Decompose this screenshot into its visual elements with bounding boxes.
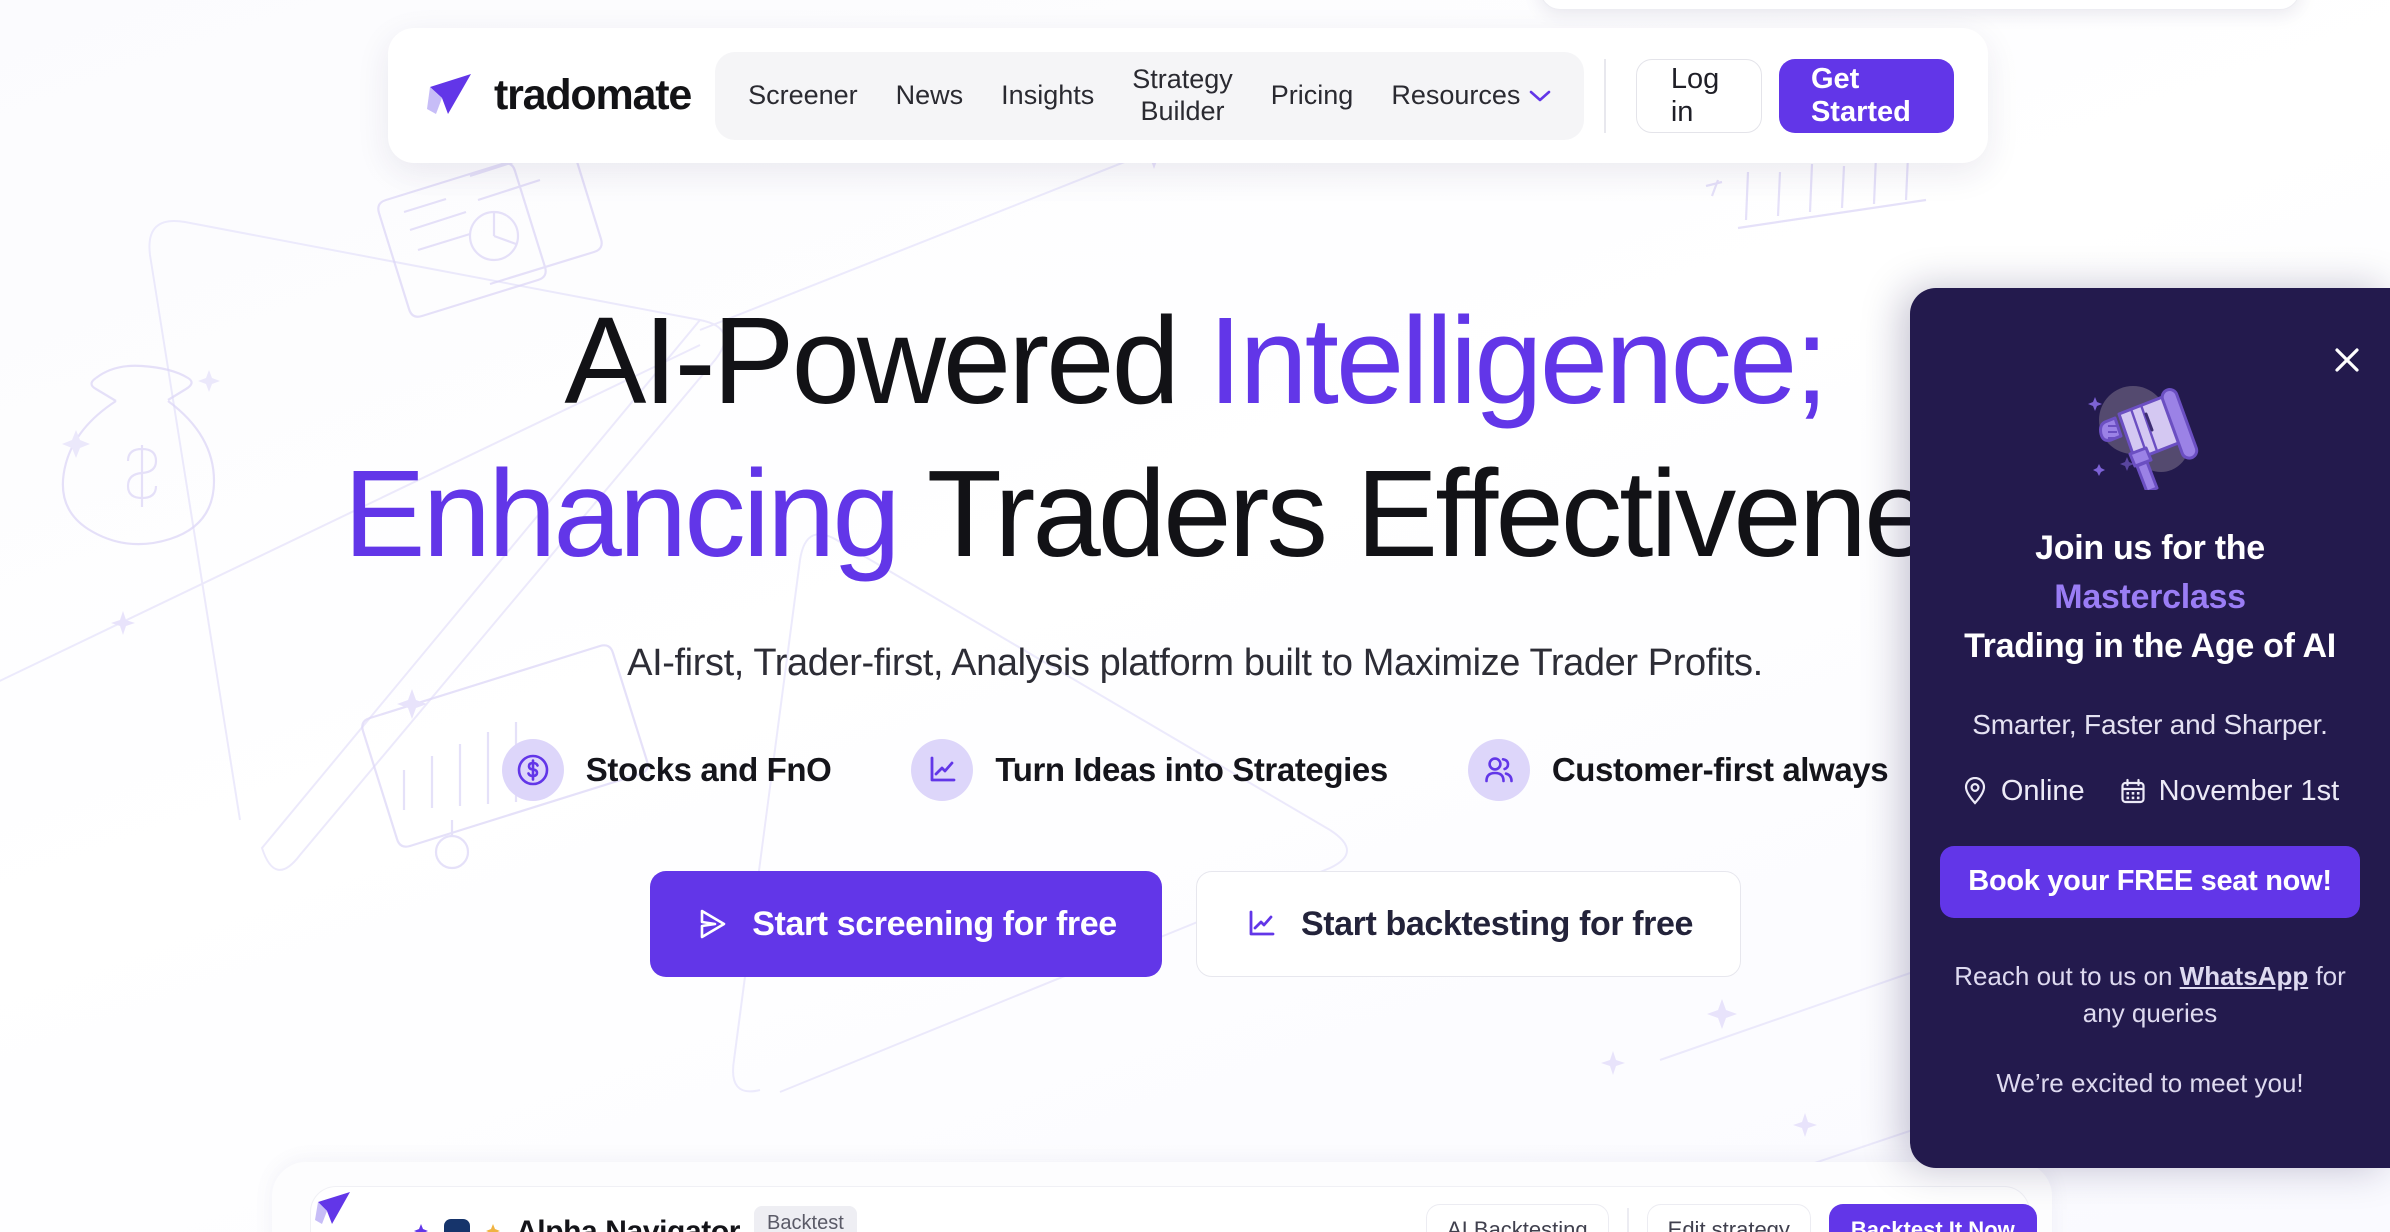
feature-stocks-and-fno: Stocks and FnO bbox=[502, 739, 832, 801]
start-backtesting-label: Start backtesting for free bbox=[1301, 905, 1693, 944]
calendar-icon bbox=[2119, 777, 2147, 805]
strategy-avatar-icon bbox=[444, 1219, 470, 1232]
get-started-button[interactable]: Get Started bbox=[1779, 59, 1954, 133]
nav-item-pricing[interactable]: Pricing bbox=[1252, 81, 1373, 111]
feature-label: Stocks and FnO bbox=[586, 751, 832, 789]
promo-excited-text: We’re excited to meet you! bbox=[1940, 1068, 2360, 1099]
start-screening-button[interactable]: Start screening for free bbox=[650, 871, 1162, 977]
promo-meta: Online November 1st bbox=[1940, 775, 2360, 808]
chevron-down-icon bbox=[1529, 89, 1551, 103]
edit-strategy-chip[interactable]: Edit strategy bbox=[1647, 1204, 1811, 1232]
hero-headline-part-1: AI-Powered bbox=[564, 293, 1208, 430]
sparkle-icon bbox=[484, 1223, 502, 1232]
bottom-card-title: Alpha Navigator bbox=[516, 1215, 740, 1232]
bottom-card-divider bbox=[1627, 1208, 1629, 1232]
start-backtesting-button[interactable]: Start backtesting for free bbox=[1196, 871, 1741, 977]
masterclass-promo-popup: Join us for the Masterclass Trading in t… bbox=[1910, 288, 2390, 1168]
book-free-seat-button[interactable]: Book your FREE seat now! bbox=[1940, 846, 2360, 918]
promo-mode-label: Online bbox=[2001, 775, 2085, 808]
dollar-circle-icon bbox=[502, 739, 564, 801]
nav-item-news[interactable]: News bbox=[877, 81, 983, 111]
page-root: tradomate Screener News Insights Strateg… bbox=[0, 0, 2390, 1232]
bottom-card-title-row: Alpha Navigator Backtest bbox=[412, 1206, 857, 1232]
feature-label: Customer-first always bbox=[1552, 751, 1888, 789]
start-screening-label: Start screening for free bbox=[752, 905, 1117, 944]
bottom-card-actions: AI Backtesting Edit strategy Backtest It… bbox=[1426, 1204, 2037, 1232]
send-icon bbox=[694, 906, 730, 942]
line-chart-icon bbox=[911, 739, 973, 801]
nav-item-resources[interactable]: Resources bbox=[1372, 80, 1570, 111]
feature-turn-ideas-into-strategies: Turn Ideas into Strategies bbox=[911, 739, 1387, 801]
login-button[interactable]: Log in bbox=[1636, 59, 1762, 133]
promo-heading-line-3: Trading in the Age of AI bbox=[1940, 622, 2360, 671]
hero-headline-part-2: Traders Effectiveness bbox=[898, 446, 2047, 583]
promo-mode: Online bbox=[1961, 775, 2085, 808]
brand-name: tradomate bbox=[494, 71, 691, 120]
promo-note-before: Reach out to us on bbox=[1954, 961, 2179, 991]
nav-item-resources-label: Resources bbox=[1391, 80, 1520, 111]
line-chart-icon bbox=[1243, 906, 1279, 942]
brand-logo[interactable]: tradomate bbox=[424, 69, 691, 123]
promo-date: November 1st bbox=[2119, 775, 2340, 808]
bottom-card-badge: Backtest bbox=[754, 1206, 857, 1232]
nav-item-screener[interactable]: Screener bbox=[729, 81, 877, 111]
tradomate-arrow-logo-icon bbox=[313, 1188, 355, 1232]
sparkle-icon bbox=[412, 1223, 430, 1232]
nav-item-insights[interactable]: Insights bbox=[982, 81, 1113, 111]
promo-heading-line-1: Join us for the bbox=[1940, 524, 2360, 573]
promo-heading: Join us for the Masterclass Trading in t… bbox=[1940, 524, 2360, 671]
close-icon[interactable] bbox=[2330, 343, 2364, 377]
feature-customer-first-always: Customer-first always bbox=[1468, 739, 1888, 801]
hero-headline-accent-2: Enhancing bbox=[344, 446, 898, 583]
ai-backtesting-chip[interactable]: AI Backtesting bbox=[1426, 1204, 1609, 1232]
top-partial-bar bbox=[1540, 0, 2300, 10]
backtest-it-now-button[interactable]: Backtest It Now bbox=[1829, 1204, 2037, 1232]
header-divider bbox=[1604, 59, 1605, 133]
hero-headline-accent-1: Intelligence; bbox=[1208, 293, 1825, 430]
whatsapp-link[interactable]: WhatsApp bbox=[2180, 961, 2309, 991]
tradomate-arrow-logo-icon bbox=[424, 69, 478, 123]
promo-date-label: November 1st bbox=[2159, 775, 2340, 808]
nav-item-strategy-builder[interactable]: Strategy Builder bbox=[1113, 64, 1252, 128]
promo-heading-masterclass: Masterclass bbox=[1940, 573, 2360, 622]
feature-label: Turn Ideas into Strategies bbox=[995, 751, 1387, 789]
location-pin-icon bbox=[1961, 777, 1989, 805]
site-header: tradomate Screener News Insights Strateg… bbox=[388, 28, 1988, 163]
megaphone-icon bbox=[2075, 370, 2225, 490]
users-icon bbox=[1468, 739, 1530, 801]
main-navigation: Screener News Insights Strategy Builder … bbox=[715, 52, 1584, 140]
promo-whatsapp-note: Reach out to us on WhatsApp for any quer… bbox=[1940, 958, 2360, 1032]
promo-subtitle: Smarter, Faster and Sharper. bbox=[1940, 709, 2360, 741]
